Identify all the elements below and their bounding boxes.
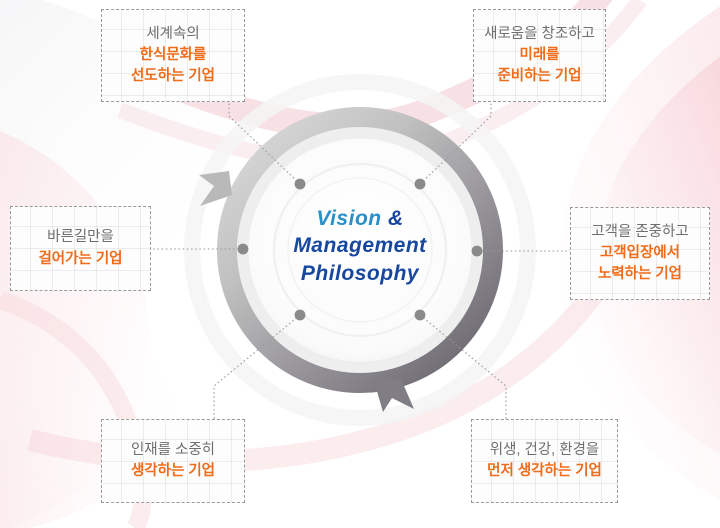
info-box-hygiene-health-environment[interactable]: 위생, 건강, 환경을 먼저 생각하는 기업 (471, 419, 618, 503)
info-box-line: 걸어가는 기업 (38, 249, 122, 270)
info-box-line: 미래를 (519, 45, 559, 66)
info-box-global-korean-food-culture[interactable]: 세계속의 한식문화를 선도하는 기업 (101, 9, 245, 102)
center-line1-ampersand: & (388, 207, 404, 230)
info-box-line: 새로움을 창조하고 (484, 24, 595, 45)
info-box-line: 바른길만을 (47, 227, 114, 248)
info-box-line: 한식문화를 (140, 45, 207, 66)
info-box-line: 인재를 소중히 (131, 440, 215, 461)
info-box-line: 생각하는 기업 (131, 461, 215, 482)
info-box-line: 준비하는 기업 (497, 66, 581, 87)
info-box-line: 위생, 건강, 환경을 (490, 440, 600, 461)
info-box-create-new-prepare-future[interactable]: 새로움을 창조하고 미래를 준비하는 기업 (473, 9, 606, 102)
info-box-value-people[interactable]: 인재를 소중히 생각하는 기업 (101, 419, 245, 503)
info-box-line: 고객을 존중하고 (591, 222, 688, 243)
info-box-walk-the-right-path[interactable]: 바른길만을 걸어가는 기업 (10, 206, 151, 291)
vision-philosophy-diagram: Vision & Management Philosophy 세계속의 한식문화… (0, 0, 720, 528)
info-box-line: 노력하는 기업 (598, 264, 682, 285)
info-box-line: 고객입장에서 (600, 243, 680, 264)
info-box-respect-customers[interactable]: 고객을 존중하고 고객입장에서 노력하는 기업 (570, 207, 710, 300)
center-line3: Philosophy (230, 260, 490, 287)
info-box-line: 선도하는 기업 (131, 66, 215, 87)
center-line2: Management (230, 232, 490, 259)
info-box-line: 세계속의 (146, 24, 199, 45)
center-wordmark: Vision & Management Philosophy (230, 205, 490, 287)
info-box-line: 먼저 생각하는 기업 (487, 461, 602, 482)
center-line1-main: Vision (316, 207, 381, 230)
